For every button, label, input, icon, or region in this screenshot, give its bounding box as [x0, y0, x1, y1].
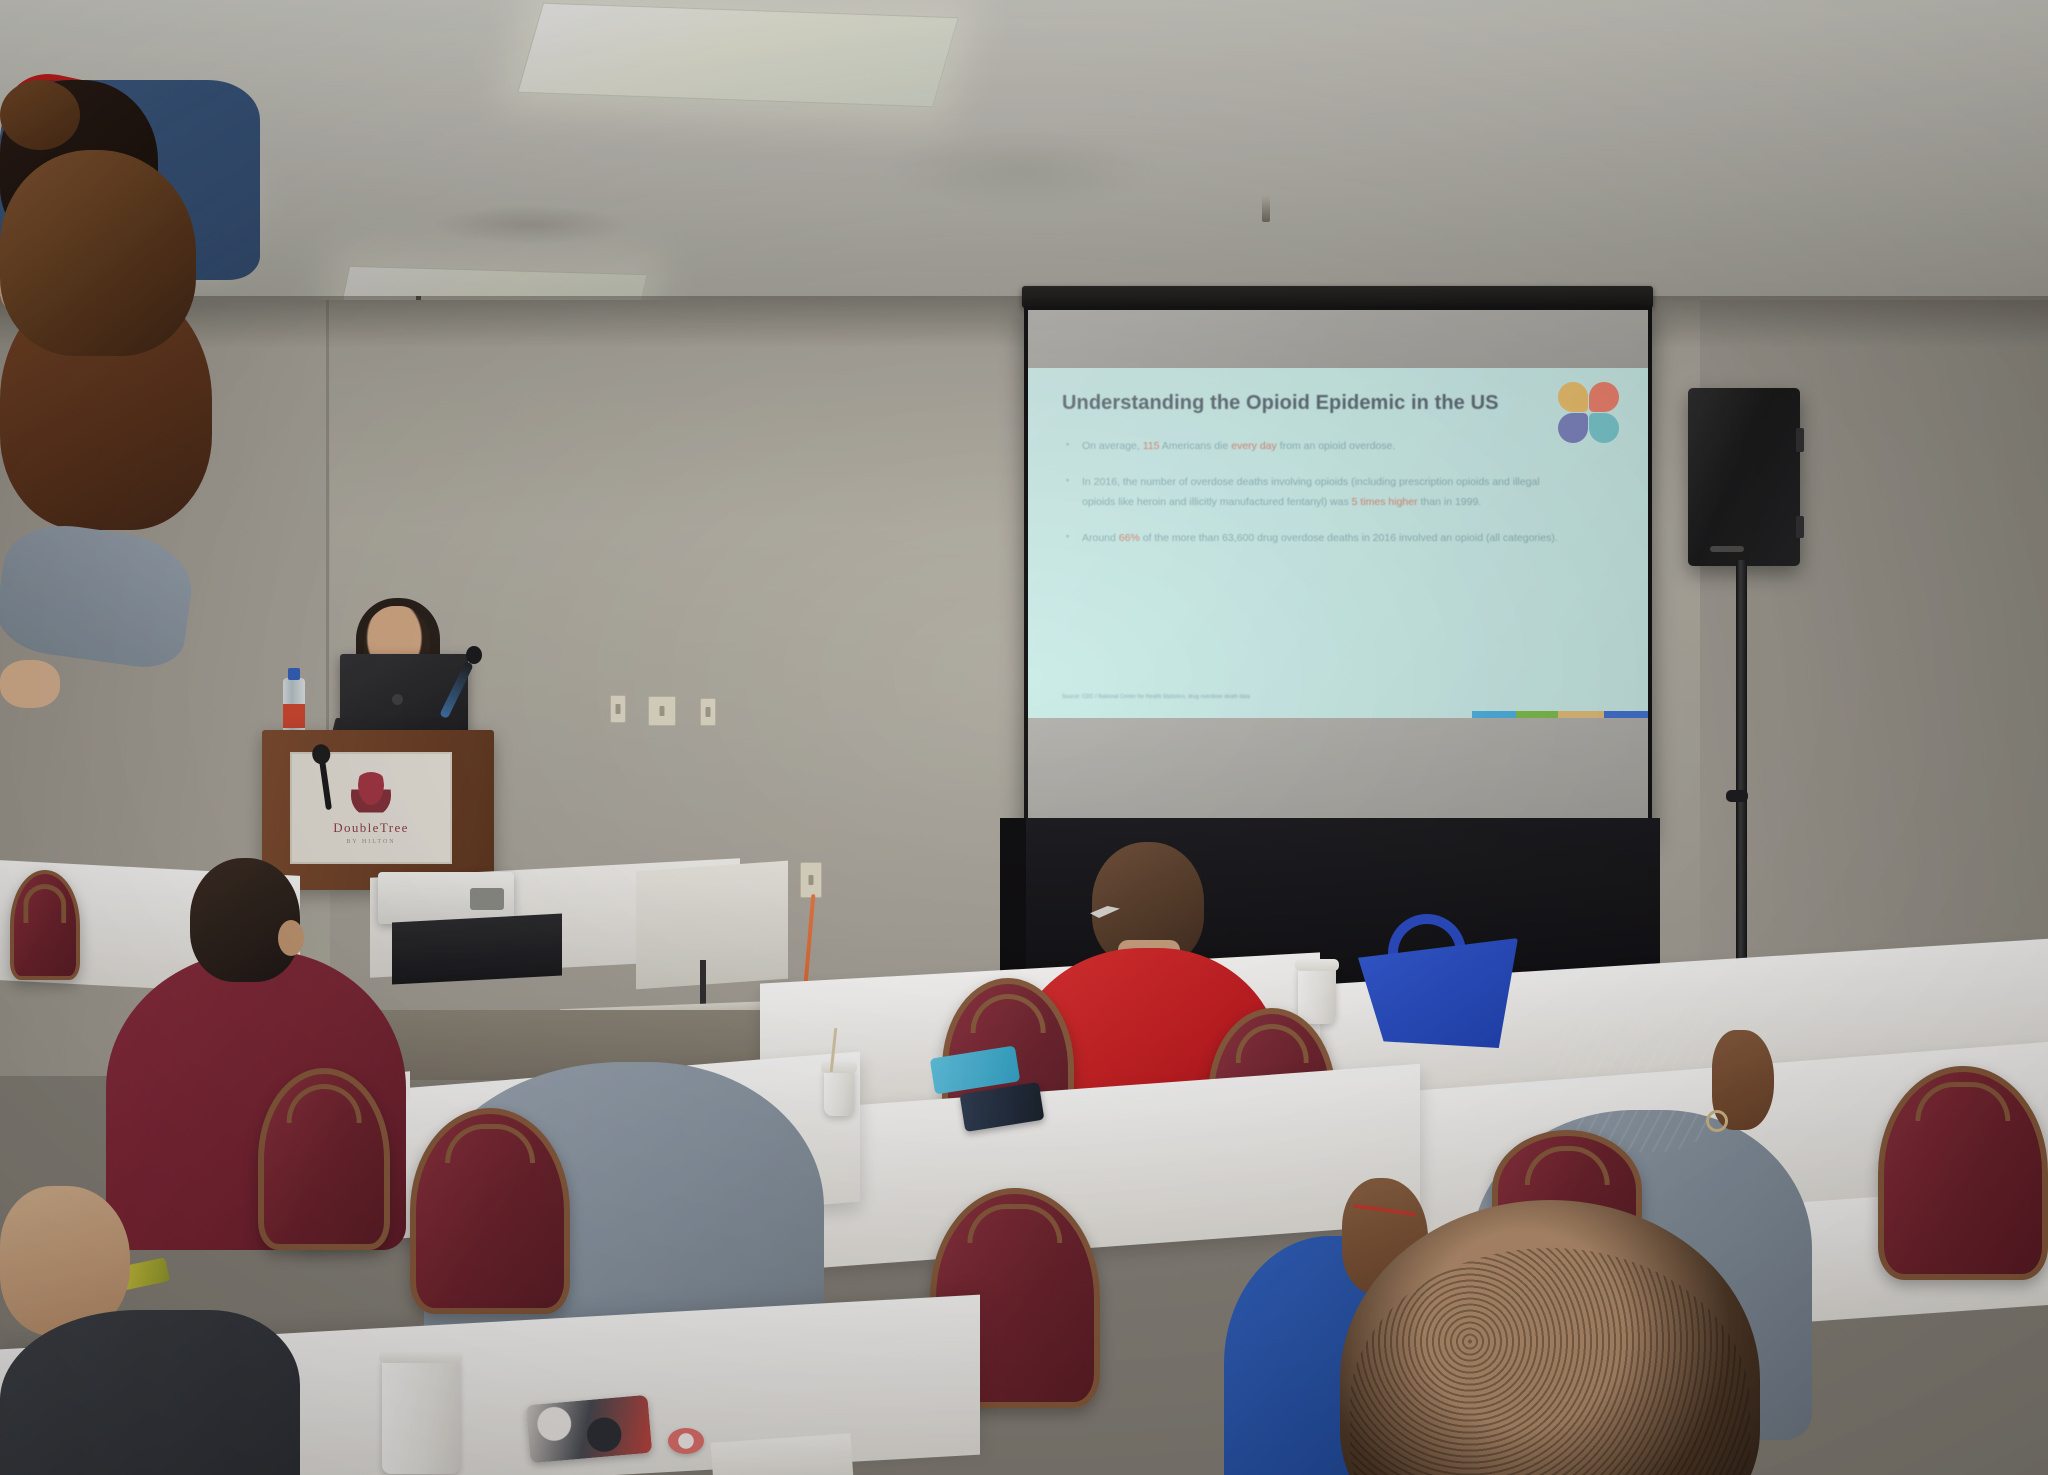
bullet-text-mid: Americans die: [1159, 440, 1231, 452]
pa-speaker: [1688, 388, 1800, 566]
venue-brand-name: DoubleTree: [333, 820, 409, 836]
stripe-segment-cyan: [1472, 711, 1516, 718]
av-equipment-case: [392, 914, 562, 985]
screen-surface: Understanding the Opioid Epidemic in the…: [1028, 310, 1648, 836]
venue-brand-subtitle: BY HILTON: [346, 839, 395, 845]
conference-room-photo: Understanding the Opioid Epidemic in the…: [0, 0, 2048, 1475]
banquet-chair[interactable]: [1878, 1066, 2048, 1280]
attendee-hand: [0, 660, 60, 708]
podium: DoubleTree BY HILTON: [262, 730, 494, 890]
attendee-ear: [278, 920, 304, 956]
light-switch-plate[interactable]: [700, 698, 716, 726]
attendee-front-left: [0, 80, 196, 356]
bullet-text-pre: On average,: [1082, 440, 1143, 452]
stripe-segment-tan: [1558, 711, 1604, 718]
bullet-highlight-secondary: every day: [1231, 440, 1277, 452]
speaker-handle: [1796, 428, 1804, 452]
speaker-handle: [1796, 516, 1804, 538]
screen-frame: Understanding the Opioid Epidemic in the…: [1024, 306, 1652, 840]
coffee-cup[interactable]: [824, 1068, 854, 1116]
microphone-head-icon: [466, 646, 482, 664]
coffee-cup[interactable]: [1298, 966, 1336, 1024]
attendee-arm: [0, 517, 198, 672]
light-switch-plate[interactable]: [648, 696, 676, 726]
attendee-hair: [0, 150, 196, 356]
slide-bullet-item: Around 66% of the more than 63,600 drug …: [1062, 529, 1562, 548]
attendee-hair-bun: [0, 80, 80, 150]
drape-edge-shadow: [1000, 818, 1026, 988]
bullet-text-post: than in 1999.: [1418, 496, 1482, 508]
slide-footnote: Source: CDC / National Center for Health…: [1062, 694, 1250, 700]
sprinkler-head-icon: [1262, 196, 1270, 222]
attendee-torso: [0, 1310, 300, 1475]
stripe-segment-blue: [1604, 711, 1648, 718]
slide-bullet-item: In 2016, the number of overdose deaths i…: [1062, 473, 1562, 512]
smartphone-patterned-case[interactable]: [526, 1395, 653, 1463]
projection-screen: Understanding the Opioid Epidemic in the…: [1010, 286, 1655, 846]
logo-petal-bottom-right: [1589, 413, 1619, 443]
bullet-text-post: of the more than 63,600 drug overdose de…: [1140, 532, 1558, 544]
logo-petal-bottom-left: [1558, 413, 1588, 443]
banquet-chair[interactable]: [410, 1108, 570, 1314]
stripe-segment-green: [1516, 711, 1558, 718]
attendee-hair-braid-texture: [1556, 980, 1728, 1152]
screen-roller-case: [1022, 286, 1653, 308]
banquet-chair[interactable]: [258, 1068, 390, 1250]
slide-bullet-item: On average, 115 Americans die every day …: [1062, 437, 1562, 456]
wall-power-outlet[interactable]: [800, 862, 822, 898]
hoop-earring: [1706, 1110, 1728, 1132]
projection-letterbox-top: [1028, 310, 1648, 370]
speaker-stand-knob[interactable]: [1726, 790, 1748, 802]
peppermint-candy[interactable]: [668, 1428, 704, 1454]
light-switch-plate[interactable]: [610, 695, 626, 723]
bullet-text-post: from an opioid overdose.: [1277, 440, 1395, 452]
ceiling: [0, 0, 2048, 330]
slide-footer-stripe: [1472, 711, 1648, 718]
bullet-highlight: 115: [1143, 440, 1160, 452]
presentation-slide: Understanding the Opioid Epidemic in the…: [1028, 368, 1648, 718]
side-table: [636, 861, 788, 990]
ceiling-shading: [0, 0, 2048, 330]
bullet-text-pre: Around: [1082, 532, 1119, 544]
slide-title: Understanding the Opioid Epidemic in the…: [1062, 392, 1614, 415]
bullet-highlight: 5 times higher: [1352, 496, 1418, 508]
bullet-highlight: 66%: [1119, 532, 1140, 544]
coffee-cup[interactable]: [382, 1358, 460, 1474]
attendee-head: [190, 858, 300, 982]
banquet-chair[interactable]: [10, 870, 80, 980]
slide-bullet-list: On average, 115 Americans die every day …: [1062, 437, 1614, 549]
venue-brand-sign: DoubleTree BY HILTON: [290, 752, 452, 864]
doubletree-logo-icon: [351, 772, 391, 816]
